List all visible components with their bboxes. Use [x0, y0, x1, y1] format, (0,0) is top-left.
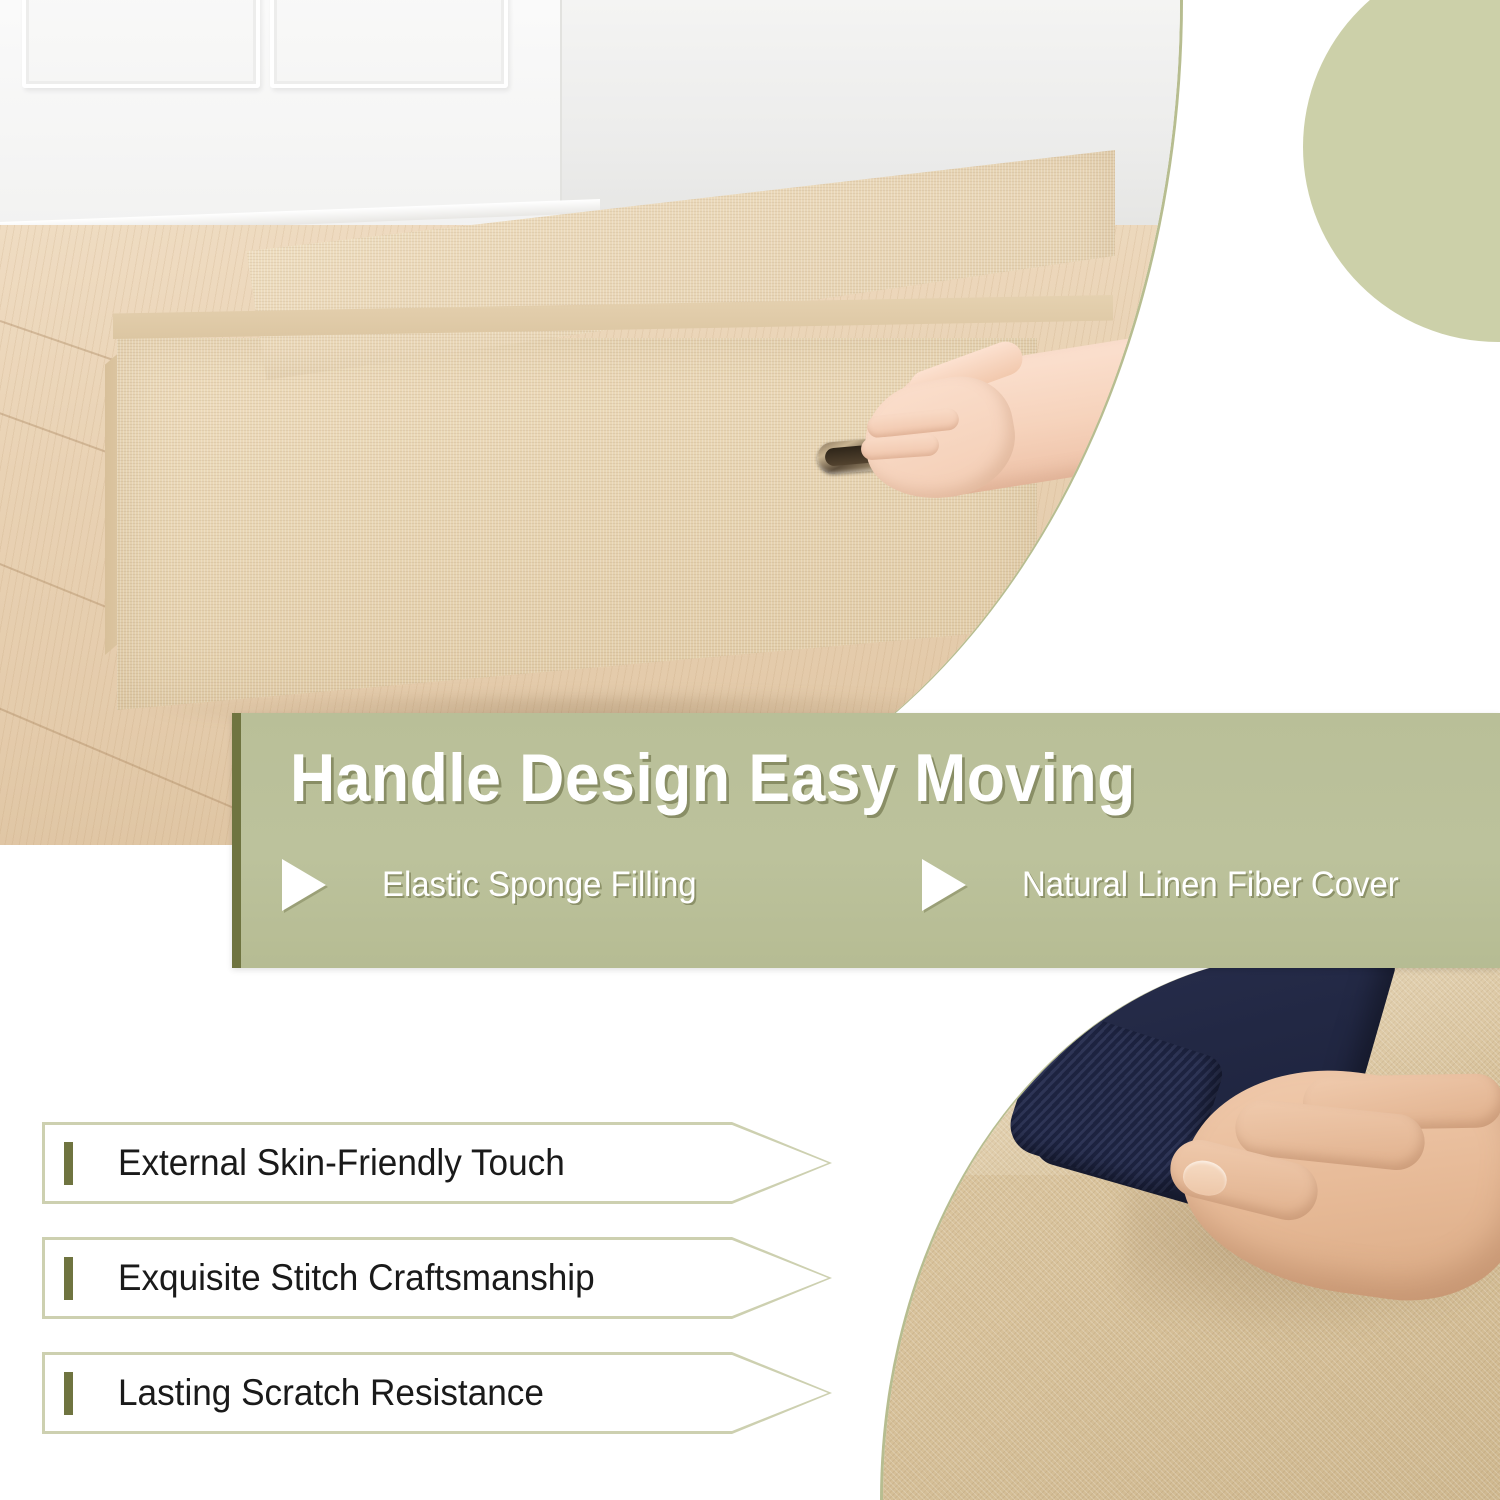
banner-left-stripe — [232, 713, 241, 968]
decor-circle — [1303, 0, 1500, 342]
banner-feature-label: Elastic Sponge Filling — [382, 865, 697, 905]
bullet-bar-icon — [64, 1372, 73, 1415]
banner-feature-item-1: Natural Linen Fiber Cover — [922, 859, 1423, 911]
feature-callout-1: Exquisite Stitch Craftsmanship — [42, 1237, 832, 1319]
feature-callout-2: Lasting Scratch Resistance — [42, 1352, 832, 1434]
banner-title: Handle Design Easy Moving — [290, 739, 1385, 817]
feature-callout-0: External Skin-Friendly Touch — [42, 1122, 832, 1204]
triangle-right-icon — [922, 859, 966, 911]
triangle-right-icon — [282, 859, 326, 911]
banner-feature-item-0: Elastic Sponge Filling — [282, 859, 922, 911]
feature-callout-label: External Skin-Friendly Touch — [118, 1122, 565, 1204]
product-photo-bottom-right — [880, 955, 1500, 1500]
banner-feature-list: Elastic Sponge Filling Natural Linen Fib… — [282, 845, 1492, 925]
feature-callout-list: External Skin-Friendly Touch Exquisite S… — [42, 1122, 842, 1467]
infographic-canvas: Handle Design Easy Moving Elastic Sponge… — [0, 0, 1500, 1500]
headline-banner: Handle Design Easy Moving Elastic Sponge… — [232, 713, 1500, 968]
bullet-bar-icon — [64, 1257, 73, 1300]
feature-callout-label: Lasting Scratch Resistance — [118, 1352, 544, 1434]
feature-callout-label: Exquisite Stitch Craftsmanship — [118, 1237, 595, 1319]
storage-ottoman-icon — [95, 150, 1183, 710]
bullet-bar-icon — [64, 1142, 73, 1185]
banner-feature-label: Natural Linen Fiber Cover — [1022, 865, 1399, 905]
